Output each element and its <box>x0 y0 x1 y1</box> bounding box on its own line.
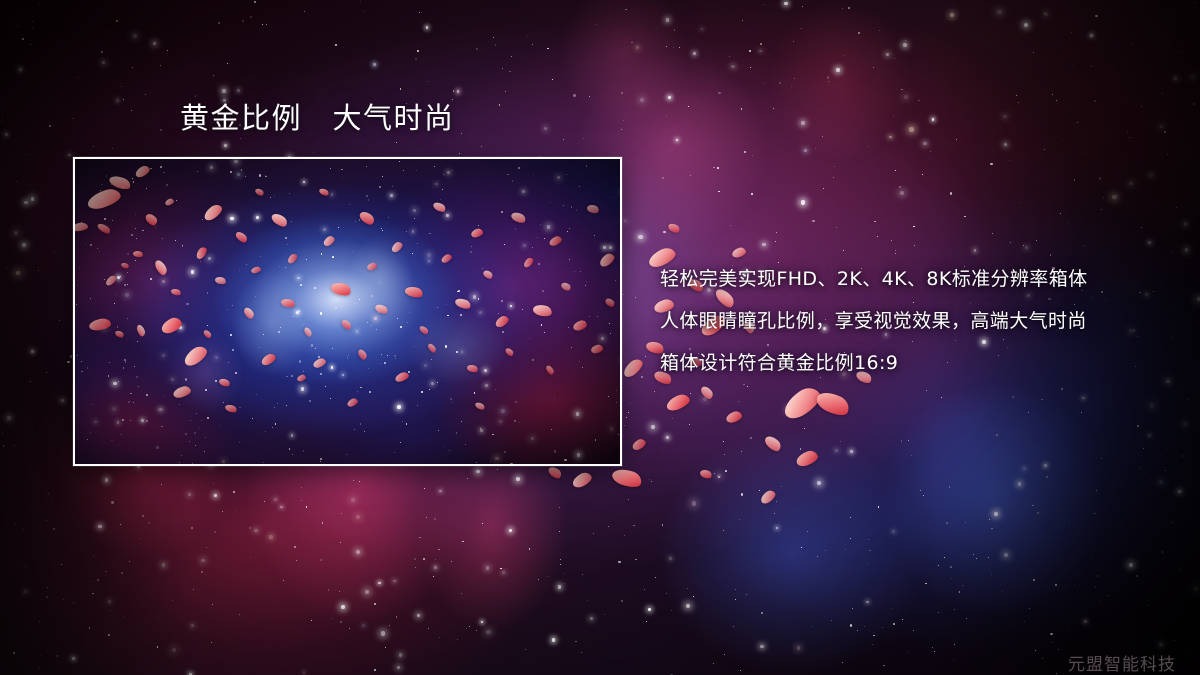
presentation-slide: 黄金比例 大气时尚 轻松完美实现FHD、2K、4K、8K标准分辨率箱体 人体眼睛… <box>0 0 1200 675</box>
petal <box>390 240 404 254</box>
petal <box>322 234 336 247</box>
petal <box>667 221 681 234</box>
image-petals <box>75 159 620 464</box>
petal <box>454 296 472 310</box>
petal <box>763 433 784 453</box>
petal <box>731 246 747 259</box>
petal <box>547 465 564 481</box>
petal <box>504 347 514 358</box>
petal <box>664 392 691 413</box>
petal <box>202 202 225 223</box>
petal <box>610 466 643 490</box>
petal <box>470 228 484 239</box>
petal <box>296 374 306 382</box>
petal <box>194 245 208 260</box>
description-line-1: 轻松完美实现FHD、2K、4K、8K标准分辨率箱体 <box>660 258 1180 300</box>
petal <box>548 235 563 248</box>
petal <box>202 329 212 340</box>
petal <box>532 303 553 318</box>
petal <box>96 222 112 236</box>
page-title: 黄金比例 大气时尚 <box>180 101 455 135</box>
petal <box>357 348 368 361</box>
petal <box>590 344 603 354</box>
petal <box>621 356 646 379</box>
petal <box>725 410 743 424</box>
petal <box>260 352 277 367</box>
petal <box>134 164 151 179</box>
petal <box>432 200 447 213</box>
petal <box>779 383 824 424</box>
petal <box>85 186 122 212</box>
petal <box>234 230 249 245</box>
petal <box>132 250 143 258</box>
product-image-frame[interactable] <box>73 157 622 466</box>
petal <box>170 288 181 297</box>
petal <box>159 315 183 335</box>
petal <box>394 371 410 383</box>
petal <box>631 437 648 452</box>
description-line-3: 箱体设计符合黄金比例16:9 <box>660 342 1180 384</box>
petal <box>560 281 572 292</box>
petal <box>474 401 486 411</box>
petal <box>224 403 238 414</box>
petal <box>108 173 133 191</box>
petal <box>358 209 377 227</box>
petal <box>418 324 429 335</box>
petal <box>346 397 359 408</box>
petal <box>286 252 299 265</box>
product-image <box>75 159 620 464</box>
image-starfield <box>75 159 620 464</box>
petal <box>144 212 159 228</box>
petal <box>254 187 265 197</box>
image-vignette <box>75 159 620 464</box>
petal <box>270 211 290 229</box>
petal <box>280 297 296 308</box>
petal <box>340 318 352 331</box>
petal <box>494 314 511 329</box>
petal <box>572 319 588 332</box>
petal <box>250 266 261 274</box>
petal <box>604 297 616 309</box>
petal <box>172 385 192 400</box>
petal <box>181 343 210 369</box>
petal <box>104 274 118 287</box>
petal <box>312 357 327 369</box>
petal <box>440 253 453 264</box>
petal <box>120 261 129 269</box>
petal <box>545 364 555 376</box>
petal <box>136 324 147 338</box>
petal <box>427 342 438 354</box>
petal <box>218 377 231 388</box>
petal <box>88 318 111 332</box>
petal <box>330 280 353 298</box>
image-wisp-layer <box>75 159 620 464</box>
description-line-2: 人体眼睛瞳孔比例，享受视觉效果，高端大气时尚 <box>660 300 1180 342</box>
petal <box>598 251 617 268</box>
petal <box>570 470 593 490</box>
petal <box>482 269 494 281</box>
petal <box>214 276 227 286</box>
petal <box>586 203 600 215</box>
petal <box>153 258 168 276</box>
petal <box>404 285 424 300</box>
petal <box>366 262 377 271</box>
petal <box>759 488 778 505</box>
image-nebula-layer <box>75 159 620 464</box>
petal <box>303 326 313 338</box>
petal <box>318 187 330 197</box>
feature-description-block: 轻松完美实现FHD、2K、4K、8K标准分辨率箱体 人体眼睛瞳孔比例，享受视觉效… <box>660 258 1180 384</box>
petal <box>510 210 527 225</box>
petal <box>814 388 853 420</box>
petal <box>374 303 389 316</box>
company-watermark: 元盟智能科技 <box>1068 650 1176 675</box>
petal <box>242 306 255 320</box>
petal <box>794 449 819 469</box>
petal <box>164 198 175 207</box>
petal <box>699 468 713 480</box>
petal <box>699 384 715 401</box>
petal <box>75 222 88 232</box>
petal <box>114 329 125 339</box>
petal <box>522 256 535 269</box>
petal <box>466 363 479 373</box>
